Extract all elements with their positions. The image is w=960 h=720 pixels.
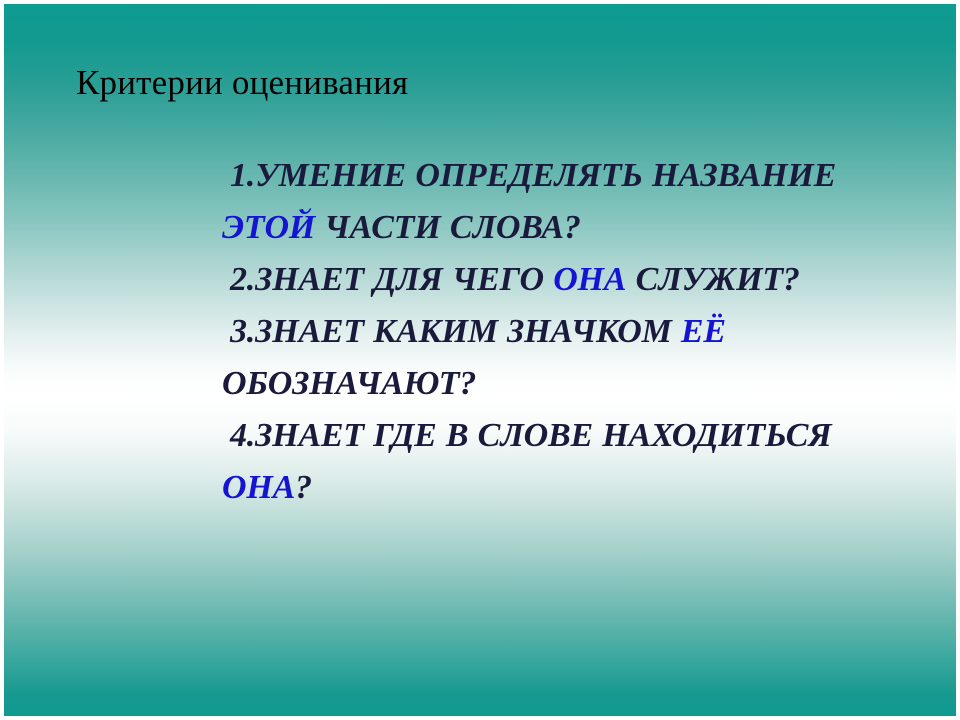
text-run: ЧАСТИ СЛОВА?: [315, 209, 581, 246]
list-item: 1.УМЕНИЕ ОПРЕДЕЛЯТЬ НАЗВАНИЕ ЭТОЙ ЧАСТИ …: [222, 150, 922, 254]
text-run: 4.ЗНАЕТ ГДЕ В СЛОВЕ НАХОДИТЬСЯ: [230, 417, 831, 454]
text-run: 2.ЗНАЕТ ДЛЯ ЧЕГО: [230, 261, 553, 298]
text-run: СЛУЖИТ?: [626, 261, 799, 298]
content-placeholder: 1.УМЕНИЕ ОПРЕДЕЛЯТЬ НАЗВАНИЕ ЭТОЙ ЧАСТИ …: [222, 150, 922, 514]
text-run: 1.УМЕНИЕ ОПРЕДЕЛЯТЬ НАЗВАНИЕ: [230, 157, 836, 194]
presentation-slide: Критерии оценивания 1.УМЕНИЕ ОПРЕДЕЛЯТЬ …: [0, 0, 960, 720]
highlighted-word: ОНА: [222, 469, 295, 506]
text-run: ?: [295, 469, 312, 506]
text-run: 3.ЗНАЕТ КАКИМ ЗНАЧКОМ: [230, 313, 681, 350]
criteria-list: 1.УМЕНИЕ ОПРЕДЕЛЯТЬ НАЗВАНИЕ ЭТОЙ ЧАСТИ …: [222, 150, 922, 514]
text-run: ОБОЗНАЧАЮТ?: [222, 365, 476, 402]
list-item: 4.ЗНАЕТ ГДЕ В СЛОВЕ НАХОДИТЬСЯ ОНА?: [222, 410, 922, 514]
highlighted-word: ЕЁ: [681, 313, 726, 350]
list-item: 3.ЗНАЕТ КАКИМ ЗНАЧКОМ ЕЁ ОБОЗНАЧАЮТ?: [222, 306, 922, 410]
title-placeholder: Критерии оценивания: [76, 62, 896, 104]
highlighted-word: ОНА: [553, 261, 626, 298]
page-title: Критерии оценивания: [76, 62, 896, 104]
highlighted-word: ЭТОЙ: [222, 209, 315, 246]
list-item: 2.ЗНАЕТ ДЛЯ ЧЕГО ОНА СЛУЖИТ?: [222, 254, 922, 306]
